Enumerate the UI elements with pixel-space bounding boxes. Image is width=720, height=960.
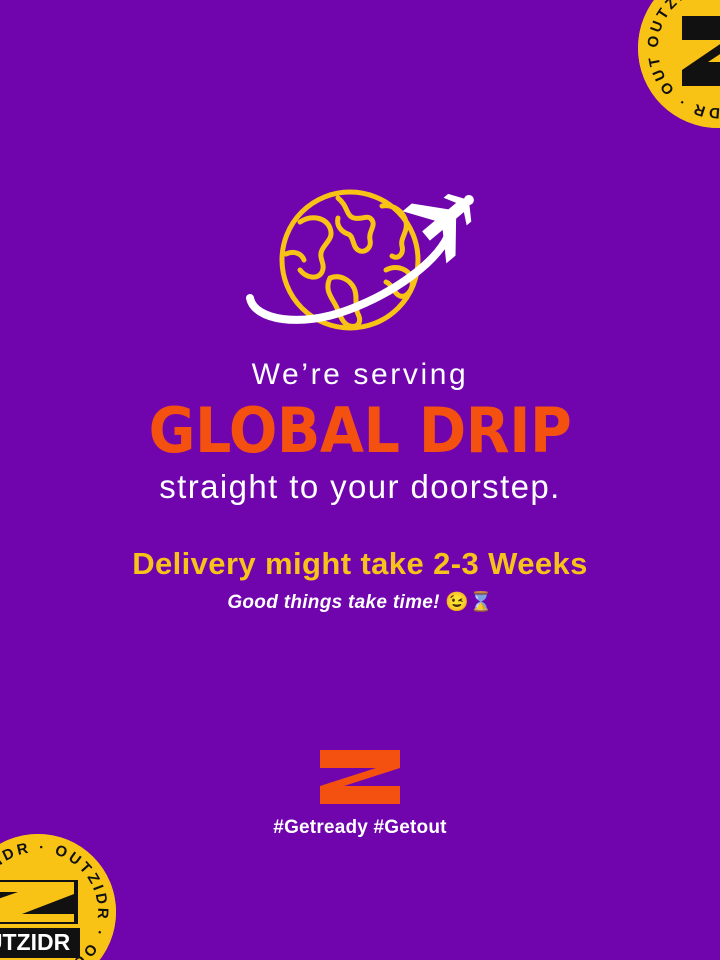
globe-icon (230, 170, 490, 350)
delivery-time-text: Delivery might take 2-3 Weeks (0, 548, 720, 579)
promo-poster: We’re serving GLOBAL DRIP straight to yo… (0, 0, 720, 960)
brand-badge-top-right: OUTZIDR · OUTZIDR · OUTZIDR · OUTZIDR · (638, 0, 720, 128)
eyebrow-text: We’re serving (0, 360, 720, 390)
z-logo-mark (318, 748, 402, 806)
delivery-notice-block: Delivery might take 2-3 Weeks Good thing… (0, 548, 720, 612)
headline-block: We’re serving GLOBAL DRIP straight to yo… (0, 360, 720, 503)
badge-wordmark-bottom-left: OUTZIDR (0, 929, 71, 955)
globe-plane-illustration (230, 170, 490, 350)
delivery-reassurance: Good things take time! 😉⌛ (0, 593, 720, 612)
subline-text: straight to your doorstep. (0, 470, 720, 503)
wink-hourglass-emoji: 😉⌛ (445, 592, 492, 613)
reassurance-text: Good things take time! (227, 592, 439, 613)
brand-badge-bottom-left: OUTZIDR · OUTZIDR · OUTZIDR · OUTZIDR · … (0, 834, 116, 960)
footer-brand-block: #Getready #Getout (0, 748, 720, 837)
page-title: GLOBAL DRIP (29, 400, 691, 462)
